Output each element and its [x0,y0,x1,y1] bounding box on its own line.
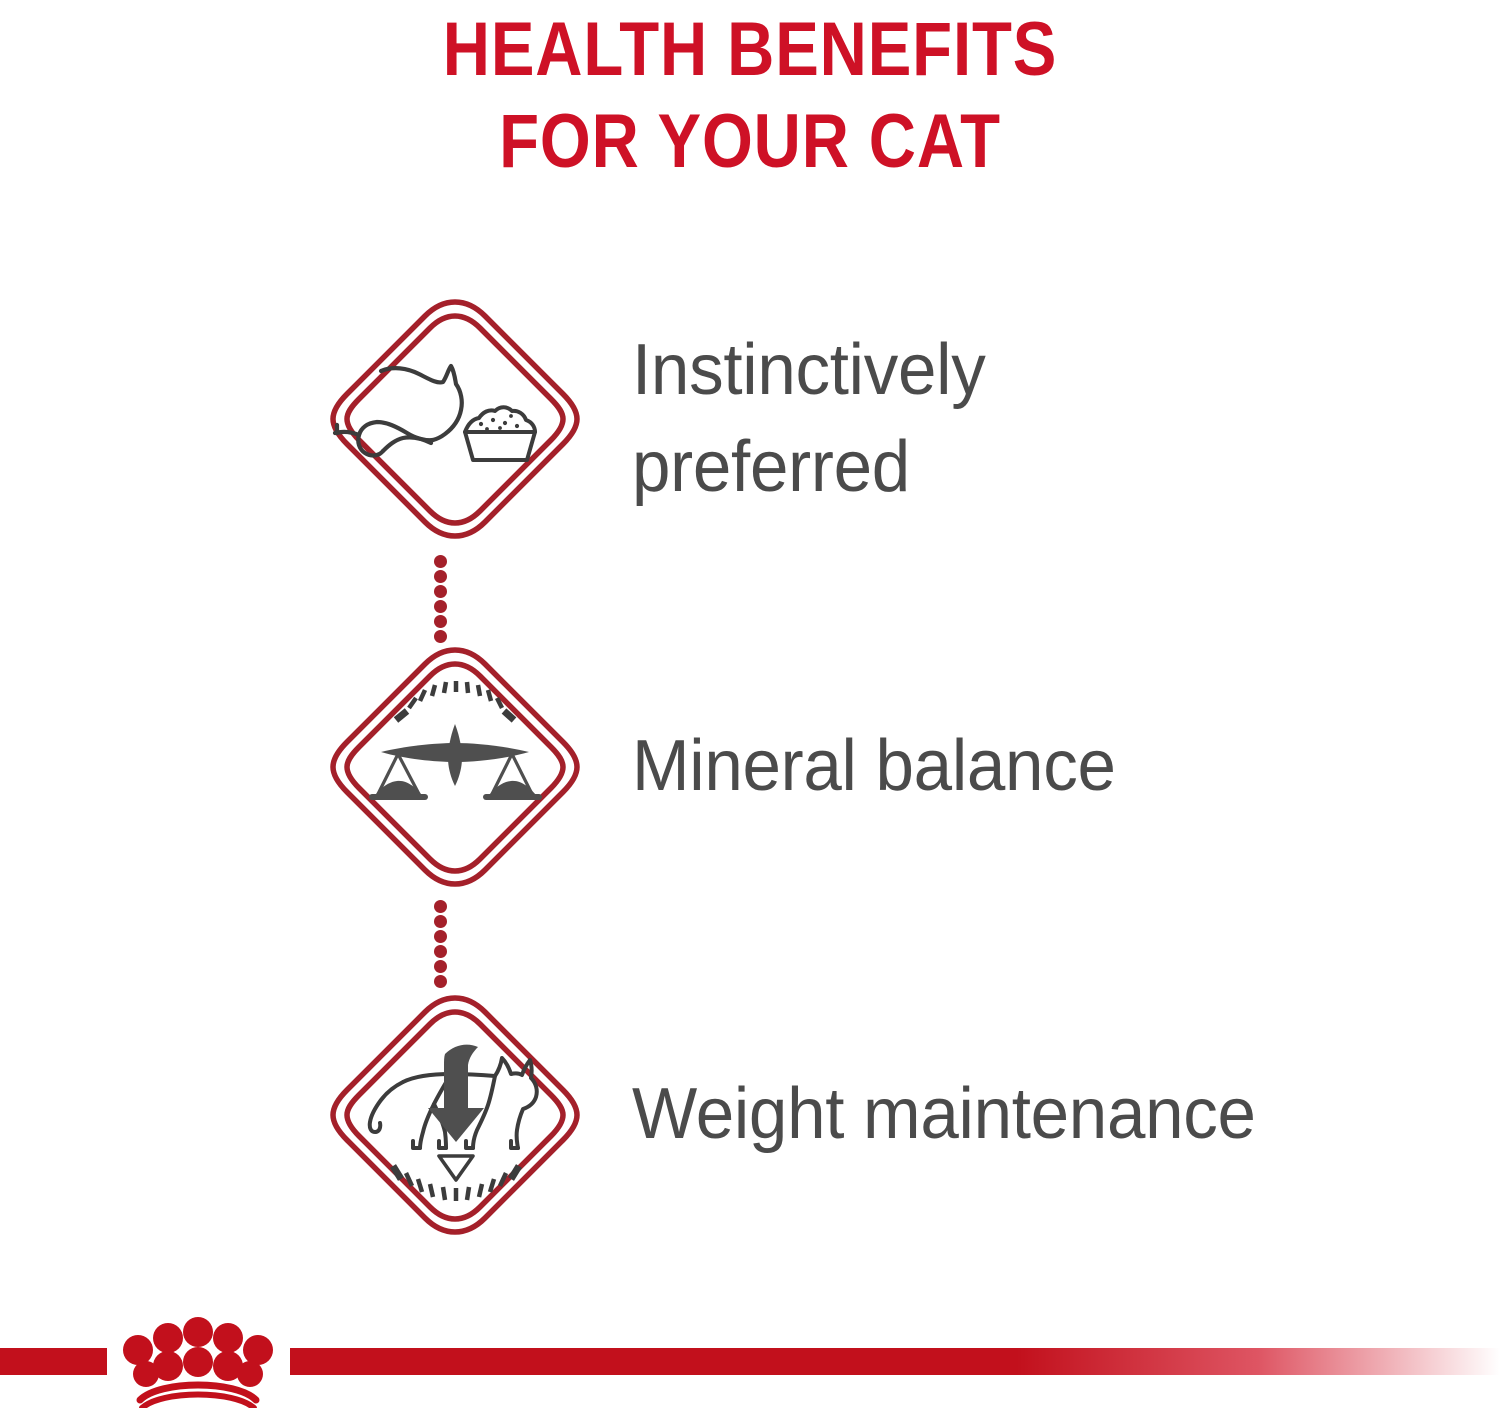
health-benefits-infographic: HEALTH BENEFITS FOR YOUR CAT [0,0,1500,1415]
page-title-line-1: HEALTH BENEFITS [105,0,1395,96]
footer [0,1290,1500,1415]
page-title-line-2: FOR YOUR CAT [105,96,1395,188]
connector-dot [434,600,447,613]
connector-dot [434,615,447,628]
cat-weight-scale-icon [315,990,595,1240]
connector-dot [434,945,447,958]
royal-canin-crown-logo [108,1308,288,1408]
benefit-item-instinctively-preferred: Instinctively preferred [0,290,1500,638]
benefits-list: Instinctively preferred [0,290,1500,1334]
connector-dot [434,555,447,568]
connector-dot [434,915,447,928]
footer-bar-left [0,1348,107,1375]
benefit-label: Weight maintenance [632,986,1256,1244]
benefit-item-mineral-balance: Mineral balance [0,638,1500,986]
connector-dots-2-3 [430,900,450,988]
page-title: HEALTH BENEFITS FOR YOUR CAT [105,0,1395,188]
benefit-item-weight-maintenance: Weight maintenance [0,986,1500,1334]
benefit-label: Mineral balance [632,638,1116,896]
benefit-label: Instinctively preferred [632,290,986,548]
connector-dot [434,930,447,943]
balance-scale-icon [315,642,595,892]
connector-dot [434,975,447,988]
connector-dot [434,585,447,598]
connector-dot [434,960,447,973]
connector-dot [434,570,447,583]
connector-dot [434,900,447,913]
cat-eating-from-bowl-icon [315,294,595,544]
connector-dot [434,630,447,643]
connector-dots-1-2 [430,555,450,643]
footer-bar-right [290,1348,1500,1375]
